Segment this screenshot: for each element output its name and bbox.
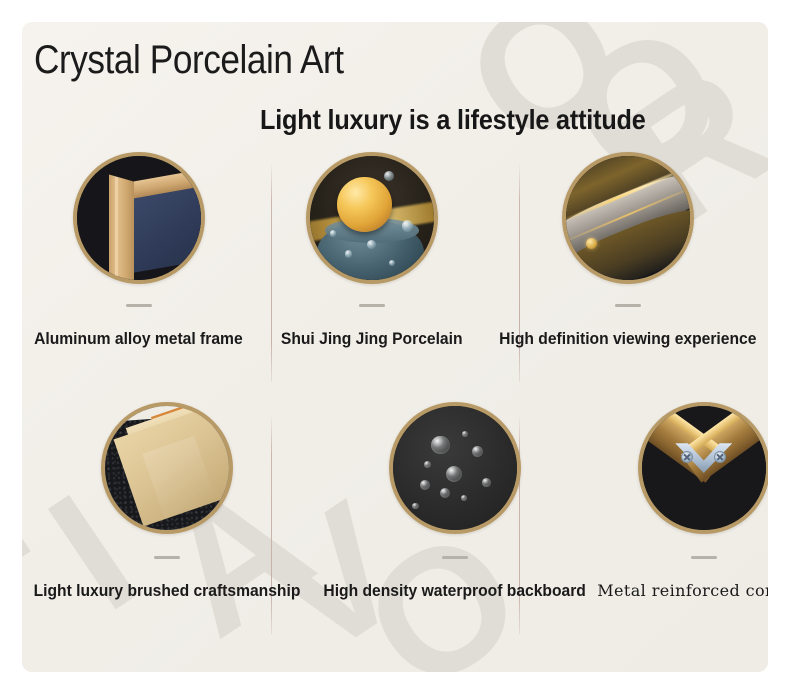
- feature-grid: Aluminum alloy metal frame: [22, 140, 768, 644]
- feature-divider-dash: [126, 304, 152, 307]
- feature-divider-dash: [154, 556, 180, 559]
- feature-label-light-luxury-brushed-craftsmanship: Light luxury brushed craftsmanship: [34, 581, 301, 601]
- feature-image-porcelain-sphere: [306, 152, 438, 284]
- feature-label-shui-jing-jing-porcelain: Shui Jing Jing Porcelain: [281, 329, 463, 349]
- feature-divider-dash: [442, 556, 468, 559]
- page-title: Crystal Porcelain Art: [34, 38, 344, 83]
- screw-icon: [681, 451, 693, 463]
- feature-cell-high-definition-viewing-experience[interactable]: High definition viewing experience: [488, 140, 768, 392]
- feature-divider-dash: [691, 556, 717, 559]
- feature-label-high-density-waterproof-backboard: High density waterproof backboard: [323, 581, 585, 601]
- feature-cell-shui-jing-jing-porcelain[interactable]: Shui Jing Jing Porcelain: [255, 140, 488, 392]
- page-subtitle: Light luxury is a lifestyle attitude: [260, 104, 646, 136]
- feature-card: O O R I I A V O Crystal Porcelain Art Li…: [22, 22, 768, 672]
- feature-label-aluminum-alloy-metal-frame: Aluminum alloy metal frame: [34, 329, 243, 349]
- feature-image-aluminum-frame: [73, 152, 205, 284]
- feature-image-metal-reinforced-corners: [638, 402, 768, 534]
- screenshot-root: O O R I I A V O Crystal Porcelain Art Li…: [0, 0, 790, 699]
- feature-row-1: Aluminum alloy metal frame: [22, 140, 768, 392]
- feature-label-metal-reinforced-corners: Metal reinforced corners: [597, 581, 768, 600]
- feature-cell-light-luxury-brushed-craftsmanship[interactable]: Light luxury brushed craftsmanship: [22, 392, 312, 644]
- screw-icon: [714, 451, 726, 463]
- feature-label-high-definition-viewing-experience: High definition viewing experience: [500, 329, 757, 349]
- feature-image-brushed-craftsmanship: [101, 402, 233, 534]
- feature-cell-high-density-waterproof-backboard[interactable]: High density waterproof backboard: [312, 392, 597, 644]
- feature-image-hd-viewing: [562, 152, 694, 284]
- feature-cell-aluminum-alloy-metal-frame[interactable]: Aluminum alloy metal frame: [22, 140, 255, 392]
- feature-image-waterproof-backboard: [389, 402, 521, 534]
- feature-row-2: Light luxury brushed craftsmanship: [22, 392, 768, 644]
- feature-divider-dash: [615, 304, 641, 307]
- feature-divider-dash: [359, 304, 385, 307]
- feature-cell-metal-reinforced-corners[interactable]: Metal reinforced corners: [597, 392, 768, 644]
